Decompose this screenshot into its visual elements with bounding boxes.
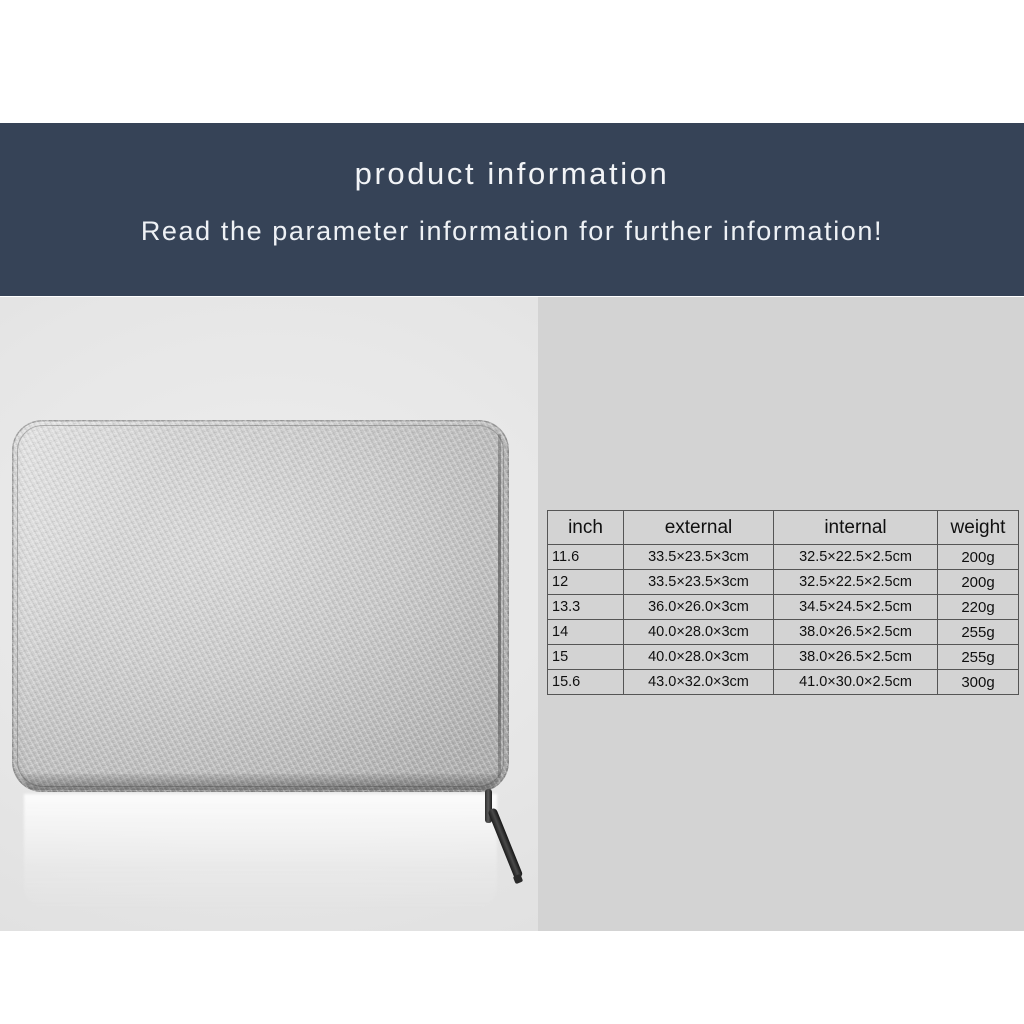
sleeve-reflection xyxy=(24,794,497,912)
laptop-sleeve xyxy=(12,420,509,792)
cell-internal: 34.5×24.5×2.5cm xyxy=(774,595,938,620)
cell-external: 40.0×28.0×3cm xyxy=(624,645,774,670)
cell-weight: 200g xyxy=(938,570,1019,595)
cell-external: 40.0×28.0×3cm xyxy=(624,620,774,645)
cell-internal: 38.0×26.5×2.5cm xyxy=(774,645,938,670)
page-title: product information xyxy=(0,156,1024,192)
column-header-weight: weight xyxy=(938,511,1019,545)
cell-weight: 255g xyxy=(938,620,1019,645)
cell-external: 43.0×32.0×3cm xyxy=(624,670,774,695)
cell-inch: 14 xyxy=(548,620,624,645)
header-banner: product information Read the parameter i… xyxy=(0,123,1024,296)
cell-internal: 38.0×26.5×2.5cm xyxy=(774,620,938,645)
spec-table-panel: inch external internal weight 11.6 33.5×… xyxy=(538,297,1024,931)
product-photo xyxy=(0,297,538,931)
table-row: 15.6 43.0×32.0×3cm 41.0×30.0×2.5cm 300g xyxy=(548,670,1019,695)
column-header-inch: inch xyxy=(548,511,624,545)
cell-inch: 15.6 xyxy=(548,670,624,695)
column-header-external: external xyxy=(624,511,774,545)
table-header-row: inch external internal weight xyxy=(548,511,1019,545)
cell-internal: 41.0×30.0×2.5cm xyxy=(774,670,938,695)
table-row: 14 40.0×28.0×3cm 38.0×26.5×2.5cm 255g xyxy=(548,620,1019,645)
zipper-track xyxy=(498,434,501,778)
table-row: 11.6 33.5×23.5×3cm 32.5×22.5×2.5cm 200g xyxy=(548,545,1019,570)
cell-internal: 32.5×22.5×2.5cm xyxy=(774,545,938,570)
column-header-internal: internal xyxy=(774,511,938,545)
cell-inch: 12 xyxy=(548,570,624,595)
page-subtitle: Read the parameter information for furth… xyxy=(0,216,1024,247)
cell-weight: 300g xyxy=(938,670,1019,695)
cell-inch: 11.6 xyxy=(548,545,624,570)
cell-inch: 13.3 xyxy=(548,595,624,620)
sleeve-piping-seam xyxy=(17,425,504,787)
cell-weight: 220g xyxy=(938,595,1019,620)
table-row: 13.3 36.0×26.0×3cm 34.5×24.5×2.5cm 220g xyxy=(548,595,1019,620)
cell-internal: 32.5×22.5×2.5cm xyxy=(774,570,938,595)
cell-weight: 200g xyxy=(938,545,1019,570)
product-information-page: product information Read the parameter i… xyxy=(0,0,1024,1024)
specification-table: inch external internal weight 11.6 33.5×… xyxy=(547,510,1019,695)
cell-external: 33.5×23.5×3cm xyxy=(624,570,774,595)
cell-weight: 255g xyxy=(938,645,1019,670)
table-row: 12 33.5×23.5×3cm 32.5×22.5×2.5cm 200g xyxy=(548,570,1019,595)
sleeve-bottom-gusset xyxy=(21,774,500,790)
table-row: 15 40.0×28.0×3cm 38.0×26.5×2.5cm 255g xyxy=(548,645,1019,670)
cell-external: 36.0×26.0×3cm xyxy=(624,595,774,620)
cell-external: 33.5×23.5×3cm xyxy=(624,545,774,570)
cell-inch: 15 xyxy=(548,645,624,670)
content-area: inch external internal weight 11.6 33.5×… xyxy=(0,297,1024,931)
